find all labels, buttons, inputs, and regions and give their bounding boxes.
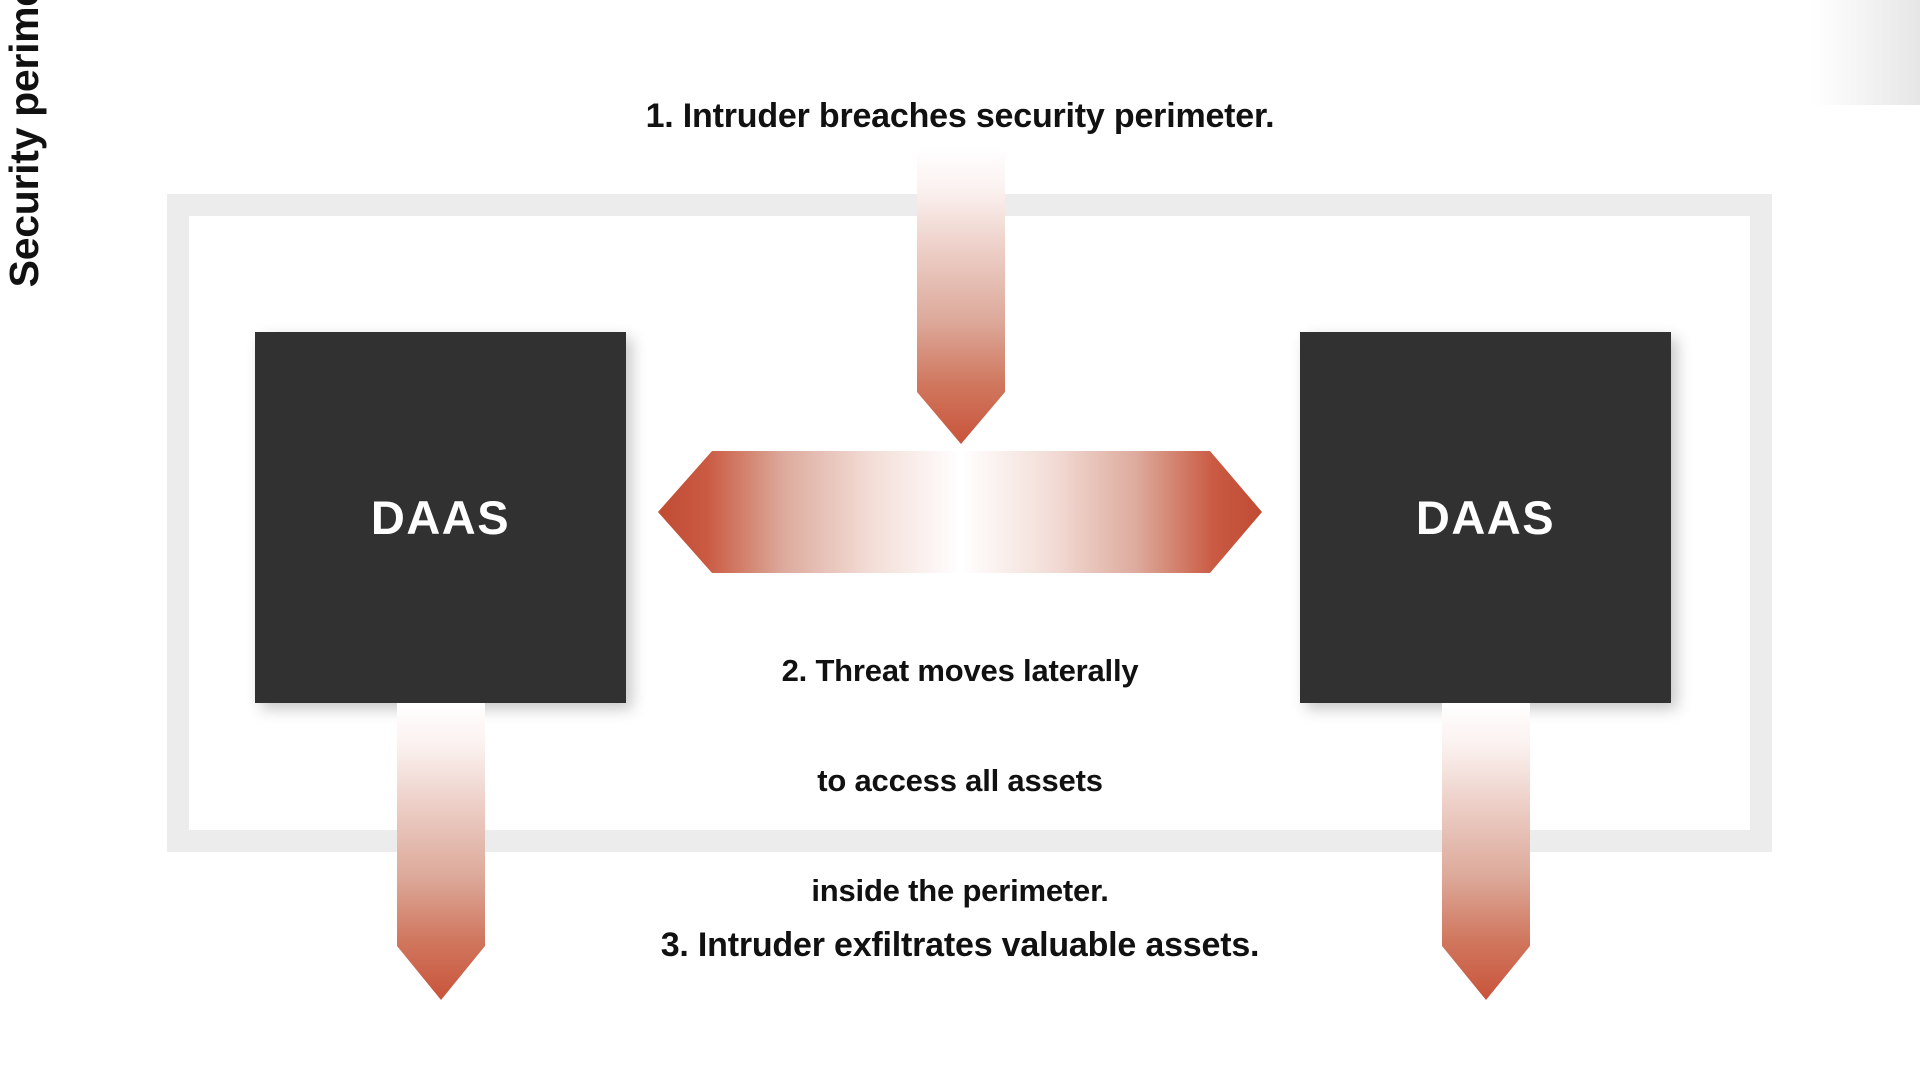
step-2-caption: 2. Threat moves laterally to access all …: [620, 580, 1300, 982]
daas-asset-label: DAAS: [371, 490, 510, 545]
security-perimeter-label: Security perimeter: [0, 0, 54, 350]
diagram-canvas: Security perimeter: [0, 0, 1920, 1080]
step-2-caption-line-1: 2. Threat moves laterally: [620, 653, 1300, 690]
step-1-caption: 1. Intruder breaches security perimeter.: [0, 96, 1920, 136]
daas-asset-box-right[interactable]: DAAS: [1300, 332, 1671, 703]
daas-asset-label: DAAS: [1416, 490, 1555, 545]
corner-gradient-decoration: [1808, 0, 1920, 105]
step-2-caption-line-2: to access all assets: [620, 763, 1300, 800]
daas-asset-box-left[interactable]: DAAS: [255, 332, 626, 703]
step-2-caption-line-3: inside the perimeter.: [620, 873, 1300, 910]
step-3-caption: 3. Intruder exfiltrates valuable assets.: [0, 925, 1920, 965]
